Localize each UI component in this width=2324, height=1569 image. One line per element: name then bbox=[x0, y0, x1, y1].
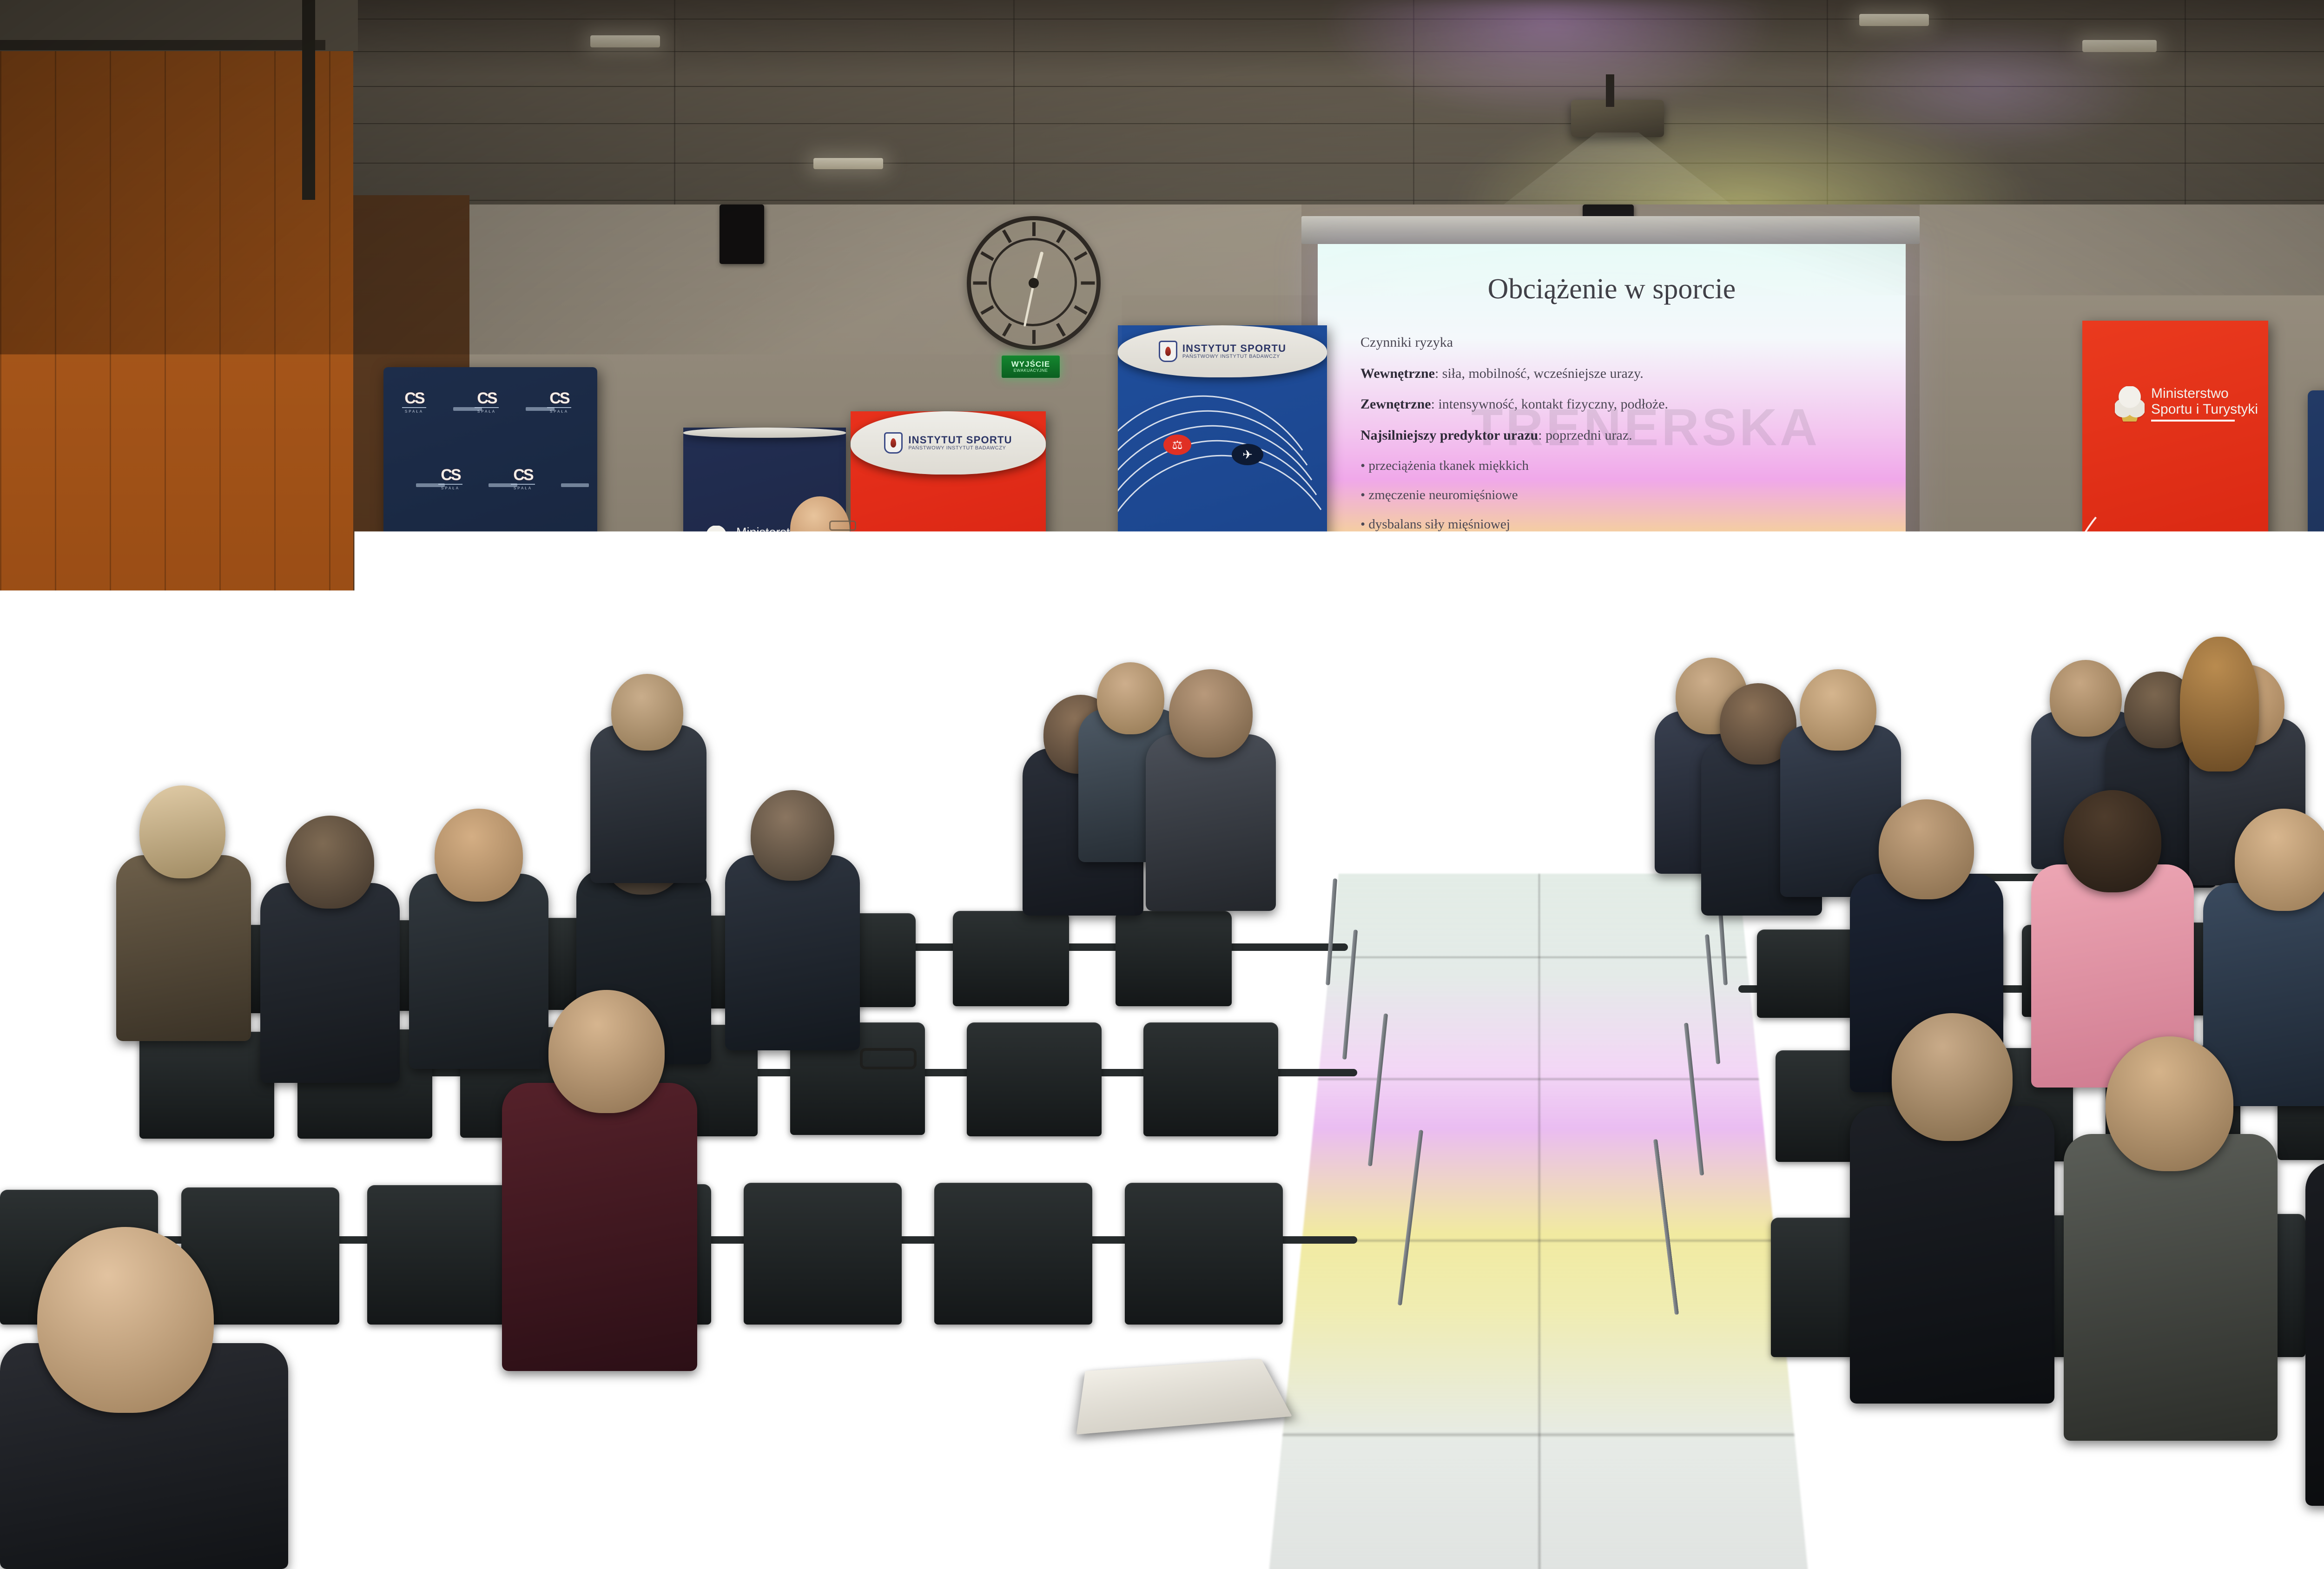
backdrop-ministry: Ministerstwo Sportu i Turystyki Minister… bbox=[2308, 390, 2324, 771]
slide-ministry-line1: Ministerstwo bbox=[1461, 678, 1536, 689]
slide-line-lead: Zewnętrzne bbox=[1360, 396, 1431, 412]
stage-logo-sub: CENTRALNY OŚRODEK SPORTU bbox=[1511, 848, 1609, 853]
slide-bullet: • niewystarczająca perfuzja tkanek bbox=[1360, 575, 1878, 591]
wall-speaker-left bbox=[720, 204, 764, 264]
cs-logo-mark: CS bbox=[547, 390, 571, 406]
institute-title: INSTYTUT SPORTU bbox=[908, 435, 1012, 445]
cs-logo-mark: CS bbox=[439, 618, 463, 634]
cs-logo-mark: CS bbox=[475, 390, 499, 406]
slide-line-lead: Najsilniejszy predyktor urazu bbox=[1360, 428, 1538, 443]
institute-subtitle: PAŃSTWOWY INSTYTUT BADAWCZY bbox=[1182, 354, 1286, 359]
cs-logo-mark: CS bbox=[438, 467, 462, 483]
slide-bullet: • zmęczenie neuromięśniowe bbox=[1360, 488, 1878, 503]
audience-head bbox=[2235, 809, 2324, 911]
audience-head bbox=[1879, 799, 1974, 899]
seat bbox=[1116, 911, 1232, 1006]
slide-ministry-logo: Ministerstwo Sportu i Turystyki bbox=[1434, 678, 1536, 705]
projection-screen-frame bbox=[1301, 216, 1920, 244]
presenter-hand bbox=[857, 585, 881, 612]
wall-clock bbox=[967, 216, 1101, 350]
audience-head bbox=[84, 702, 153, 776]
ceiling-light bbox=[813, 158, 883, 169]
audience-body bbox=[1339, 1385, 1580, 1569]
eyeglasses-icon bbox=[860, 1048, 917, 1069]
audience-body bbox=[1146, 734, 1276, 911]
cs-logo-sub: SPAŁA bbox=[402, 409, 426, 414]
slide-line-lead: Wewnętrzne bbox=[1360, 366, 1435, 381]
projector-mount bbox=[1606, 74, 1614, 107]
slide-bullet: • ograniczona regeneracja bbox=[1360, 546, 1878, 561]
audience-body bbox=[460, 674, 567, 827]
drinking-glass bbox=[1242, 656, 1256, 677]
audience-head bbox=[479, 623, 546, 695]
audience-head bbox=[2064, 790, 2161, 892]
bwe-slogan-a: Badamy bbox=[1154, 579, 1212, 595]
audience-head bbox=[2180, 637, 2259, 771]
slide-bullet: • przeciążenia tkanek miękkich bbox=[1360, 458, 1878, 474]
slide-body: Czynniki ryzyka Wewnętrzne: siła, mobiln… bbox=[1360, 335, 1878, 634]
audience-body bbox=[2064, 1134, 2278, 1441]
cs-logo-mark: CS bbox=[511, 467, 535, 483]
audience-head bbox=[1169, 669, 1253, 758]
cs-logo-mark: CS bbox=[548, 543, 572, 559]
table-leg bbox=[1301, 682, 1305, 757]
polish-eagle-icon bbox=[703, 526, 730, 558]
lecture-hall-photo: WYJŚCIE EWAKUACYJNE TRENERSKA Obciążenie… bbox=[0, 0, 2324, 1569]
institute-shield-icon bbox=[884, 432, 903, 454]
audience-body bbox=[502, 1083, 697, 1371]
slide-line: Zewnętrzne: intensywność, kontakt fizycz… bbox=[1360, 396, 1878, 412]
rollup-ministry-line1: Ministerstwo bbox=[2151, 386, 2258, 402]
audience-head bbox=[435, 809, 523, 902]
seat bbox=[953, 911, 1069, 1006]
slide-line: Wewnętrzne: siła, mobilność, wcześniejsz… bbox=[1360, 366, 1878, 382]
institute-subtitle: PAŃSTWOWY INSTYTUT BADAWCZY bbox=[908, 446, 1012, 451]
rollup-ministry-line2: Sportu i Turystyki bbox=[2151, 402, 2258, 417]
polish-eagle-icon bbox=[1434, 679, 1455, 703]
seat bbox=[967, 1022, 1102, 1136]
audience-head bbox=[139, 785, 225, 878]
slide-bullet: • niesymetryczne wzorce ruchowe bbox=[1360, 605, 1878, 620]
slide-intro: Czynniki ryzyka bbox=[1360, 335, 1878, 350]
audience-body bbox=[409, 874, 548, 1069]
slide-title: Obciążenie w sporcie bbox=[1318, 273, 1906, 306]
audience-body bbox=[2305, 1162, 2324, 1506]
audience-head bbox=[1097, 662, 1164, 734]
ceiling-projector bbox=[1571, 100, 1664, 137]
institute-title: INSTYTUT SPORTU bbox=[1182, 343, 1286, 354]
exit-sign-line1: WYJŚCIE bbox=[1011, 360, 1050, 368]
cs-logo-mark: CS bbox=[403, 543, 427, 559]
audience-head bbox=[286, 816, 374, 909]
seat bbox=[367, 1185, 525, 1325]
wall-beam bbox=[0, 40, 325, 50]
presenter-glasses bbox=[829, 521, 856, 531]
audience-head bbox=[374, 641, 435, 706]
audience-head bbox=[611, 674, 683, 751]
audience-head bbox=[37, 1227, 214, 1413]
audience-body bbox=[116, 855, 251, 1041]
audience-head bbox=[548, 990, 665, 1113]
cs-logo-mark: CS bbox=[402, 390, 426, 406]
slide-bullet: • dysbalans siły mięśniowej bbox=[1360, 517, 1878, 532]
slide-line-rest: : poprzedni uraz. bbox=[1538, 428, 1632, 443]
cs-logo-sub: SPAŁA bbox=[403, 562, 427, 566]
cs-logo-mark: CS bbox=[475, 543, 500, 559]
seat bbox=[1143, 1022, 1278, 1136]
slide-line: Najsilniejszy predyktor urazu: poprzedni… bbox=[1360, 428, 1878, 443]
polish-eagle-icon bbox=[2115, 386, 2145, 422]
ceiling-light bbox=[590, 35, 660, 47]
institute-shield-icon bbox=[1159, 341, 1177, 362]
audience-body bbox=[725, 855, 860, 1050]
stage-logo-mark: CS bbox=[1511, 817, 1609, 844]
audience-body bbox=[260, 883, 400, 1083]
exit-sign-line2: EWAKUACYJNE bbox=[1014, 368, 1048, 373]
seat bbox=[744, 1183, 902, 1325]
audience-head bbox=[2106, 1036, 2233, 1171]
audience-head bbox=[1800, 669, 1876, 751]
cs-logo-sub: SPAŁA bbox=[439, 637, 463, 641]
emergency-exit-sign: WYJŚCIE EWAKUACYJNE bbox=[1002, 356, 1060, 378]
audience-body bbox=[358, 688, 456, 827]
swimming-icon: ✈ bbox=[1232, 444, 1263, 465]
slide-line-rest: : intensywność, kontakt fizyczny, podłoż… bbox=[1431, 396, 1668, 412]
door-frame bbox=[302, 0, 315, 200]
seat bbox=[1125, 1183, 1283, 1325]
weightlifting-icon: ⚖ bbox=[1163, 435, 1191, 455]
audience-body bbox=[1850, 1106, 2054, 1404]
bwe-slogan-c: Edukujemy bbox=[1186, 595, 1259, 612]
seat bbox=[934, 1183, 1092, 1325]
slide-line-rest: : siła, mobilność, wcześniejsze urazy. bbox=[1435, 366, 1644, 381]
bwe-slogan: Badamy Wspieramy Edukujemy bbox=[1118, 579, 1327, 612]
cycling-icon: ⚐ bbox=[1177, 558, 1208, 579]
audience-head bbox=[1892, 1013, 2013, 1141]
audience-head bbox=[964, 665, 1037, 741]
audience-head bbox=[2050, 660, 2122, 737]
bwe-slogan-b: Wspieramy bbox=[1212, 579, 1291, 595]
slide-ministry-line2: Sportu i Turystyki bbox=[1461, 689, 1536, 700]
audience-head bbox=[751, 790, 834, 881]
seat bbox=[139, 1032, 274, 1139]
